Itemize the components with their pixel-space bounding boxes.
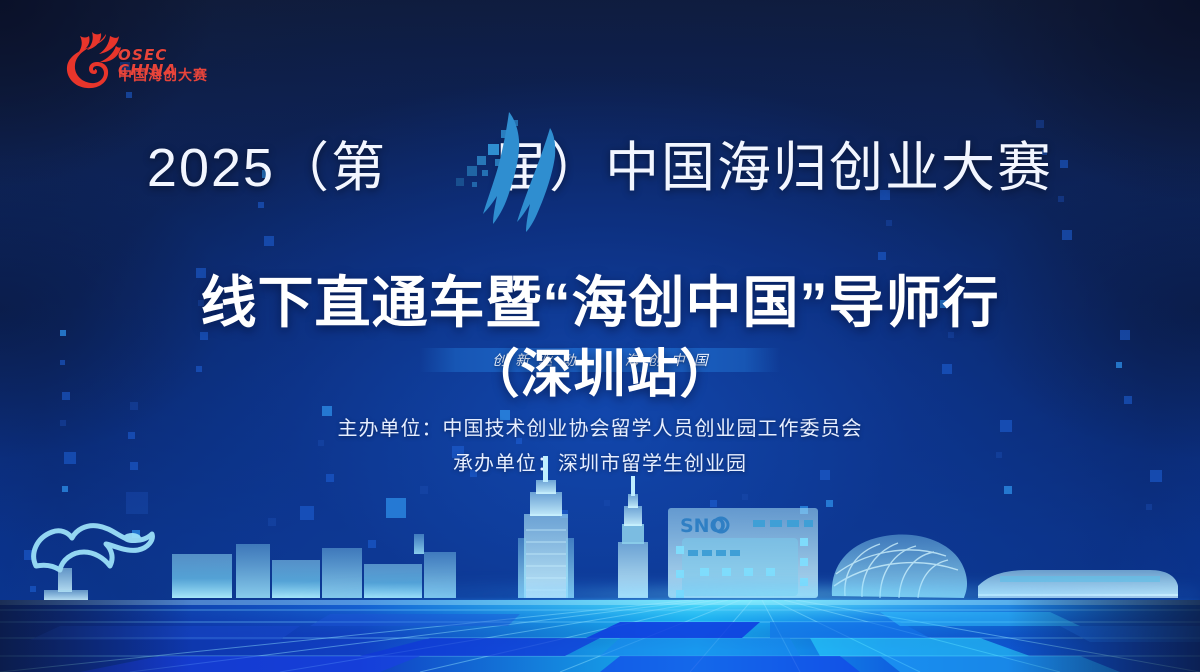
decorative-pixel bbox=[420, 486, 428, 494]
decorative-pixel bbox=[62, 486, 68, 492]
osec-china-logo: OSEC CHINA 中国海创大赛 bbox=[62, 32, 212, 94]
perspective-grid-floor bbox=[0, 600, 1200, 672]
poster-canvas: OSEC CHINA 中国海创大赛 2025（第 届）中国海归创业大赛 bbox=[0, 0, 1200, 672]
shenzhen-bay-sports-center bbox=[832, 534, 967, 598]
skyline-left-lowrise bbox=[172, 534, 456, 598]
title-competition-name: 中国海归创业大赛 bbox=[605, 138, 1053, 198]
decorative-pixel bbox=[1036, 120, 1044, 128]
decorative-pixel bbox=[132, 530, 140, 538]
decorative-pixel bbox=[826, 500, 833, 507]
decorative-pixel bbox=[1146, 504, 1152, 510]
decorative-pixel bbox=[30, 586, 36, 592]
flame-icon bbox=[62, 32, 124, 90]
pioneering-ox-sculpture-icon bbox=[34, 526, 153, 600]
headline-line-2: （深圳站） bbox=[0, 332, 1200, 407]
headline-line-1: 线下直通车暨“海创中国”导师行 bbox=[0, 258, 1200, 339]
decorative-pixel bbox=[268, 518, 276, 526]
title-year-suffix: 届） bbox=[493, 138, 605, 198]
decorative-pixel bbox=[264, 236, 274, 246]
decorative-pixel bbox=[368, 540, 376, 548]
title-year-prefix: 2025（第 bbox=[147, 141, 387, 195]
decorative-pixel bbox=[710, 500, 717, 507]
decorative-pixel bbox=[886, 220, 892, 226]
building-sno: SNO bbox=[668, 508, 818, 598]
organizers-block: 主办单位：中国技术创业协会留学人员创业园工作委员会 承办单位：深圳市留学生创业园 bbox=[0, 412, 1200, 482]
organizer-host: 主办单位：中国技术创业协会留学人员创业园工作委员会 bbox=[0, 412, 1200, 447]
decorative-pixel bbox=[742, 494, 748, 500]
decorative-pixel bbox=[604, 500, 610, 506]
title-line-1: 2025（第 届）中国海归创业大赛 bbox=[0, 132, 1200, 204]
decorative-pixel bbox=[24, 550, 34, 560]
decorative-pixel bbox=[1062, 230, 1072, 240]
decorative-pixel bbox=[560, 510, 568, 518]
floor-tiles bbox=[0, 600, 1200, 672]
high-speed-train-icon bbox=[978, 570, 1178, 598]
sno-sign-text: SNO bbox=[680, 515, 726, 537]
decorative-pixel bbox=[386, 498, 406, 518]
title-block: 2025（第 届）中国海归创业大赛 创新驱动 · 海创中国 bbox=[0, 132, 1200, 204]
decorative-pixel bbox=[800, 506, 808, 514]
title-year-suffix-and-name: 届）中国海归创业大赛 bbox=[493, 141, 1053, 195]
tower-kk100 bbox=[618, 476, 648, 598]
logo-chinese-name: 中国海创大赛 bbox=[118, 68, 218, 82]
decorative-pixel bbox=[300, 506, 314, 520]
decorative-pixel bbox=[126, 492, 148, 514]
decorative-pixel bbox=[1004, 486, 1012, 494]
organizer-coorganizer: 承办单位：深圳市留学生创业园 bbox=[0, 447, 1200, 482]
